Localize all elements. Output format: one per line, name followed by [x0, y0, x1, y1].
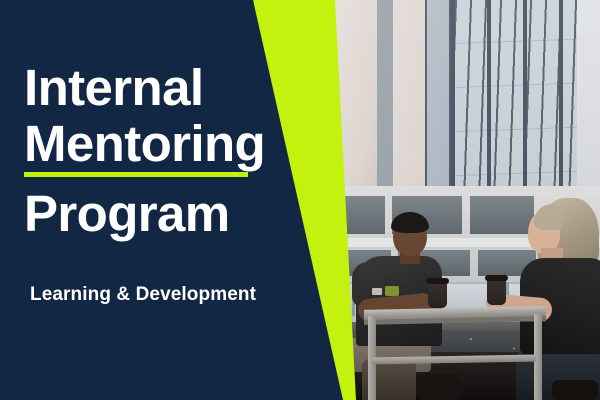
headline-line-3: Program — [24, 186, 230, 242]
headline-underline-accent — [24, 172, 248, 177]
text-block: Internal Mentoring Program Learning & De… — [24, 0, 274, 400]
subtitle: Learning & Development — [30, 283, 256, 307]
mentoring-program-banner: Internal Mentoring Program Learning & De… — [0, 0, 600, 400]
headline-line-1: Internal — [24, 60, 203, 116]
man-name-badge — [372, 288, 382, 295]
headline-line-2: Mentoring — [24, 116, 265, 172]
man-shirt-logo — [385, 286, 399, 296]
midground-window — [470, 196, 534, 234]
stool-left — [416, 374, 460, 400]
coffee-cup-right — [487, 278, 506, 305]
coffee-cup-left — [428, 281, 447, 308]
stool-right — [552, 380, 598, 400]
